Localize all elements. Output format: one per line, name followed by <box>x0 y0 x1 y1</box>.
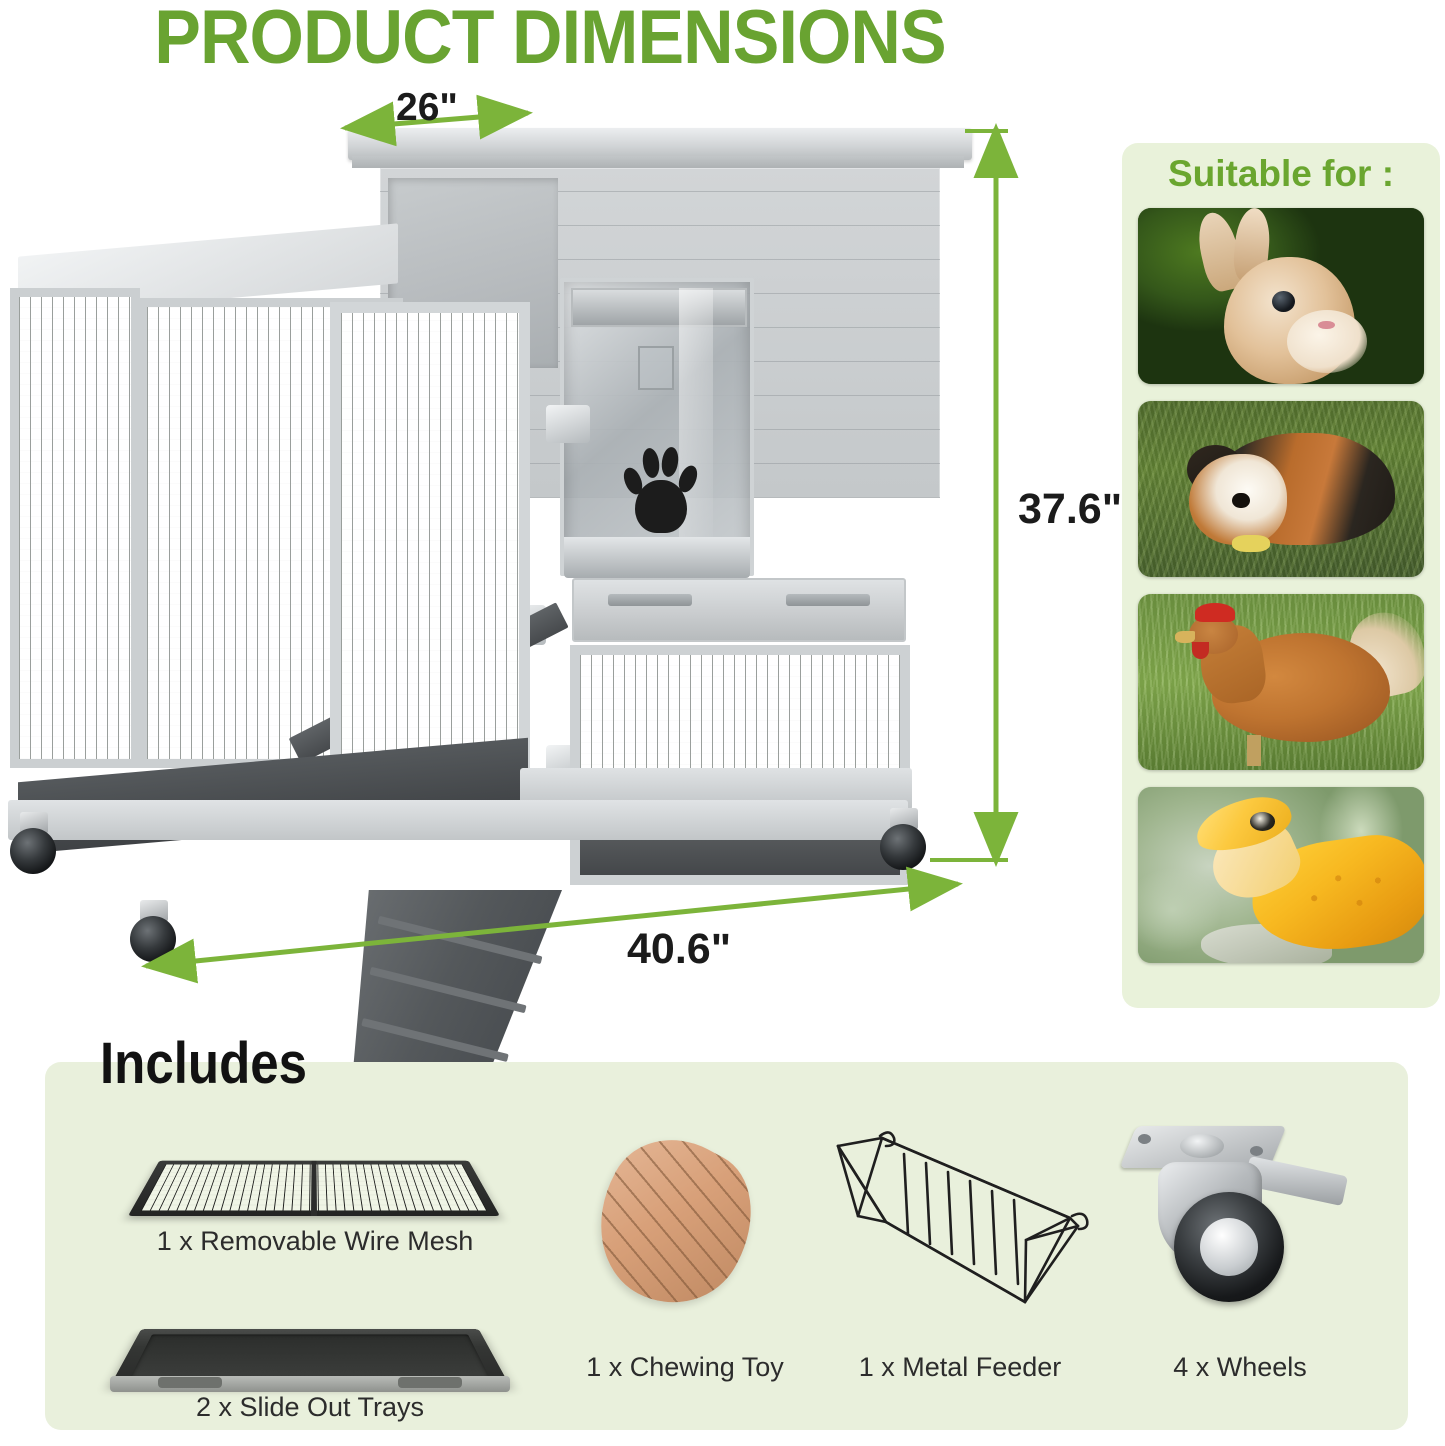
caster-tire <box>880 824 926 870</box>
rabbit-image <box>1138 208 1424 384</box>
chicken-beak <box>1175 631 1195 643</box>
mesh-center-bar <box>311 1161 316 1216</box>
includes-heading: Includes <box>100 1030 307 1097</box>
includes-label-chewing-toy: 1 x Chewing Toy <box>540 1352 830 1383</box>
pet-photo-chicken <box>1138 594 1424 770</box>
tray-handle <box>398 1377 462 1388</box>
chewing-toy-icon <box>585 1128 780 1318</box>
infographic-root: PRODUCT DIMENSIONS <box>0 0 1445 1446</box>
chicken-leg <box>1247 735 1261 767</box>
includes-label-metal-feeder: 1 x Metal Feeder <box>805 1352 1115 1383</box>
door-hinge-upper <box>546 405 590 443</box>
wire-mesh-panel <box>19 297 131 759</box>
run-side-mesh <box>10 288 140 768</box>
caster-wheel <box>10 812 58 872</box>
chicken-comb <box>1195 603 1235 622</box>
metal-feeder-icon <box>820 1130 1100 1320</box>
dimension-depth-label: 40.6" <box>627 925 731 974</box>
caster-wheel-icon <box>1122 1122 1357 1327</box>
caster-wheel <box>130 900 178 960</box>
run-access-door <box>330 302 530 772</box>
suitable-for-panel: Suitable for : <box>1122 143 1440 1008</box>
includes-label-slide-out-trays: 2 x Slide Out Trays <box>110 1392 510 1423</box>
slide-out-tray-icon <box>110 1268 510 1386</box>
tray-inner-surface <box>131 1334 490 1377</box>
door-vent-strip <box>571 288 746 327</box>
pet-photo-rabbit <box>1138 208 1424 384</box>
caster-tire <box>130 916 176 962</box>
feeder-wire-drawing <box>820 1130 1100 1320</box>
door-bottom-tray <box>564 537 750 578</box>
wire-mesh-panel <box>341 313 519 761</box>
dimension-height-label: 37.6" <box>1018 485 1122 534</box>
hutch-roof-edge <box>352 156 964 168</box>
lizard-eye <box>1250 812 1276 831</box>
paw-pad <box>635 480 687 534</box>
caster-wheel <box>880 808 928 868</box>
includes-label-wheels: 4 x Wheels <box>1110 1352 1370 1383</box>
hutch-run-area <box>10 240 530 830</box>
slide-out-drawer <box>572 578 906 642</box>
product-illustration <box>0 100 1020 1020</box>
suitable-for-heading: Suitable for : <box>1122 153 1440 195</box>
paw-print-icon <box>620 444 702 537</box>
mesh-frame <box>128 1161 500 1216</box>
pet-photo-guinea-pig <box>1138 401 1424 577</box>
hutch-lower-compartment <box>570 645 910 885</box>
caster-swivel-boss <box>1180 1134 1224 1158</box>
caster-bolt-hole <box>1138 1134 1151 1144</box>
dimension-width-label: 26" <box>396 86 458 130</box>
tray-handle <box>158 1377 222 1388</box>
caster-hub <box>1200 1218 1258 1276</box>
wire-mesh-icon <box>128 1108 500 1216</box>
page-title: PRODUCT DIMENSIONS <box>44 0 1056 81</box>
guinea-pig-food <box>1232 535 1269 553</box>
guinea-pig-eye <box>1232 493 1249 509</box>
drawer-handle-left <box>608 594 692 606</box>
base-rail-front <box>8 800 908 840</box>
caster-tire <box>10 828 56 874</box>
paw-toe <box>641 447 661 479</box>
chew-toy-ridges <box>570 1116 778 1328</box>
guinea-pig-image <box>1138 401 1424 577</box>
drawer-handle-right <box>786 594 870 606</box>
lizard-image <box>1138 787 1424 963</box>
chicken-image <box>1138 594 1424 770</box>
rabbit-eye <box>1272 291 1295 312</box>
caster-bolt-hole <box>1250 1146 1263 1156</box>
paw-toe <box>660 446 680 478</box>
includes-label-wire-mesh: 1 x Removable Wire Mesh <box>110 1226 520 1257</box>
rabbit-cheek <box>1287 310 1367 373</box>
door-latch <box>638 346 674 391</box>
pet-photo-lizard <box>1138 787 1424 963</box>
